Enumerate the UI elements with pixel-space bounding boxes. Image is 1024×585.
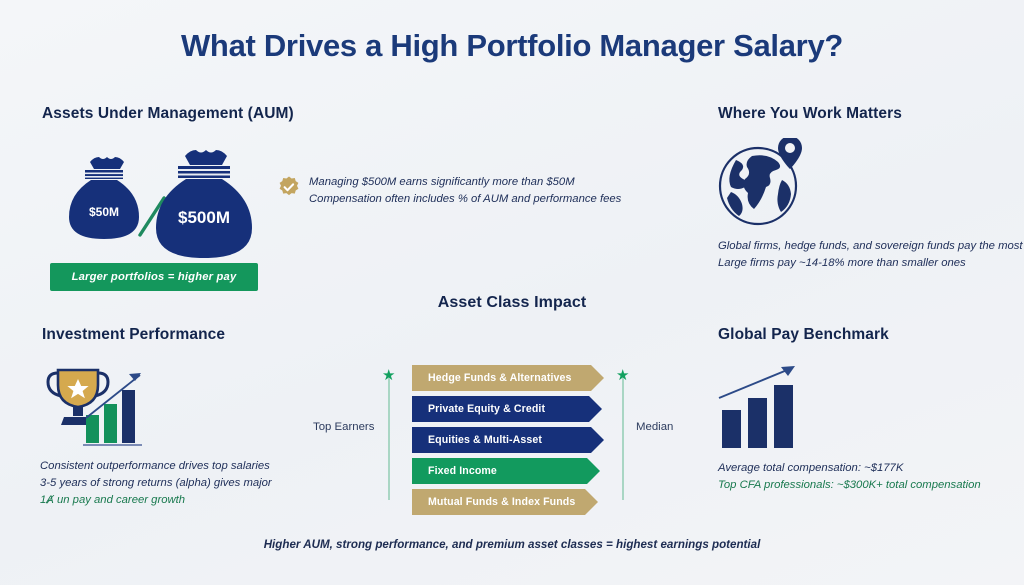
- footer-summary: Higher AUM, strong performance, and prem…: [0, 538, 1024, 551]
- large-money-bag-icon: $500M: [156, 150, 252, 258]
- svg-text:$500M: $500M: [178, 208, 230, 227]
- chart-bar-row: Private Equity & Credit: [412, 396, 612, 422]
- section-heading-work: Where You Work Matters: [718, 105, 902, 123]
- chart-bar-label-2: Equities & Multi-Asset: [428, 434, 542, 446]
- chart-bar-0: Hedge Funds & Alternatives: [412, 365, 604, 391]
- performance-note-line-3: 1Ⱥ un pay and career growth: [40, 492, 272, 509]
- chart-bar-label-1: Private Equity & Credit: [428, 403, 545, 415]
- aum-note-block: Managing $500M earns significantly more …: [278, 174, 621, 208]
- rising-bar-chart-icon: [716, 360, 816, 457]
- aum-banner: Larger portfolios = higher pay: [50, 263, 258, 291]
- section-heading-performance: Investment Performance: [42, 326, 225, 344]
- axis-line-median: [622, 378, 624, 500]
- work-note-line-2: Large firms pay ~14-18% more than smalle…: [718, 255, 1023, 272]
- chart-bar-1: Private Equity & Credit: [412, 396, 602, 422]
- trophy-growth-chart-icon: [42, 363, 167, 456]
- aum-note-line-2: Compensation often includes % of AUM and…: [309, 191, 621, 208]
- performance-note-block: Consistent outperformance drives top sal…: [40, 458, 272, 509]
- section-heading-global-pay: Global Pay Benchmark: [718, 326, 889, 344]
- chart-bar-2: Equities & Multi-Asset: [412, 427, 604, 453]
- chart-bar-row: Equities & Multi-Asset: [412, 427, 612, 453]
- svg-text:$50M: $50M: [89, 205, 119, 219]
- infographic-canvas: What Drives a High Portfolio Manager Sal…: [0, 0, 1024, 585]
- aum-banner-text: Larger portfolios = higher pay: [72, 271, 237, 283]
- chart-bar-label-3: Fixed Income: [428, 465, 497, 477]
- axis-label-median: Median: [636, 421, 673, 433]
- chart-bar-3: Fixed Income: [412, 458, 600, 484]
- performance-note-line-2: 3-5 years of strong returns (alpha) give…: [40, 475, 272, 492]
- section-heading-aum: Assets Under Management (AUM): [42, 105, 294, 123]
- global-pay-note-line-2: Top CFA professionals: ~$300K+ total com…: [718, 477, 981, 494]
- work-note-block: Global firms, hedge funds, and sovereign…: [718, 238, 1023, 272]
- chart-bar-row: Fixed Income: [412, 458, 612, 484]
- performance-note-line-1: Consistent outperformance drives top sal…: [40, 458, 272, 475]
- check-badge-icon: [278, 176, 300, 203]
- section-heading-asset-class: Asset Class Impact: [0, 294, 1024, 312]
- asset-class-funnel-chart: Hedge Funds & Alternatives Private Equit…: [412, 365, 612, 520]
- work-note-line-1: Global firms, hedge funds, and sovereign…: [718, 238, 1023, 255]
- chart-bar-label-4: Mutual Funds & Index Funds: [428, 496, 575, 508]
- page-title: What Drives a High Portfolio Manager Sal…: [0, 28, 1024, 64]
- axis-label-top-earners: Top Earners: [313, 421, 374, 433]
- axis-line-top-earners: [388, 378, 390, 500]
- globe-location-pin-icon: [716, 138, 821, 233]
- chart-bar-label-0: Hedge Funds & Alternatives: [428, 372, 571, 384]
- chart-bar-row: Hedge Funds & Alternatives: [412, 365, 612, 391]
- small-money-bag-icon: $50M: [69, 157, 139, 239]
- global-pay-note-line-1: Average total compensation: ~$177K: [718, 460, 981, 477]
- aum-note-line-1: Managing $500M earns significantly more …: [309, 174, 621, 191]
- chart-bar-row: Mutual Funds & Index Funds: [412, 489, 612, 515]
- global-pay-note-block: Average total compensation: ~$177K Top C…: [718, 460, 981, 494]
- chart-bar-4: Mutual Funds & Index Funds: [412, 489, 598, 515]
- money-bags-illustration: $50M $500M: [60, 150, 270, 262]
